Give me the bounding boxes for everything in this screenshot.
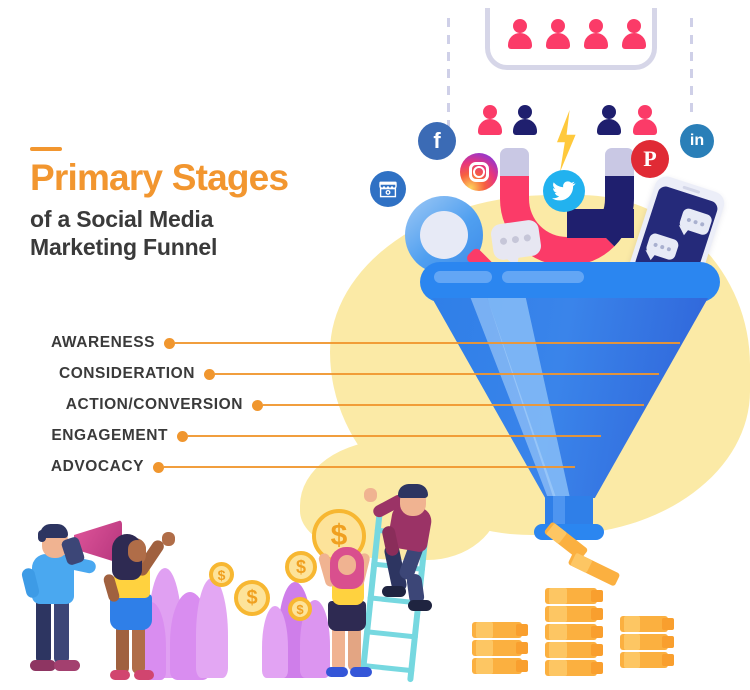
audience-person-icon: [508, 19, 532, 49]
twitter-icon[interactable]: [543, 170, 585, 212]
stage-label: ADVOCACY: [30, 458, 144, 476]
stage-row-consideration[interactable]: CONSIDERATION: [30, 365, 680, 383]
dollar-coin: $: [234, 580, 270, 616]
stage-connector-line: [188, 435, 601, 437]
audience-person-icon: [478, 105, 502, 135]
stage-dot: [164, 338, 175, 349]
character-man-on-ladder: [362, 482, 448, 622]
shop-icon[interactable]: [370, 171, 406, 207]
chat-bubble-icon: [645, 232, 680, 261]
stage-connector-line: [164, 466, 575, 468]
page-subtitle-line2: Marketing Funnel: [30, 233, 288, 261]
audience-person-icon: [633, 105, 657, 135]
dollar-coin: $: [285, 551, 317, 583]
dollar-coin: $: [288, 597, 312, 621]
foliage-shape: [196, 578, 228, 678]
speech-bubble-icon: [490, 219, 543, 261]
linkedin-icon[interactable]: in: [680, 124, 714, 158]
stage-dot: [252, 400, 263, 411]
coin-symbol: $: [296, 557, 306, 578]
dollar-coin: $: [209, 562, 234, 587]
coin-symbol: $: [296, 602, 303, 617]
twitter-bird-glyph: [552, 181, 576, 201]
title-accent-dash: [30, 147, 62, 151]
stage-connector-line: [263, 404, 644, 406]
guide-line-right: [690, 18, 693, 118]
stage-dot: [204, 369, 215, 380]
character-woman-pointing: [98, 530, 188, 680]
coin-symbol: $: [218, 567, 226, 583]
stage-connector-line: [175, 342, 680, 344]
stage-dot: [153, 462, 164, 473]
stage-connector-line: [215, 373, 659, 375]
audience-person-icon: [622, 19, 646, 49]
pinterest-icon[interactable]: P: [631, 140, 669, 178]
page-subtitle: of a Social Media Marketing Funnel: [30, 205, 288, 261]
coin-stack-right: [620, 616, 668, 678]
instagram-glyph: [469, 162, 489, 182]
audience-person-icon: [597, 105, 621, 135]
stage-row-engagement[interactable]: ENGAGEMENT: [30, 427, 680, 445]
page-subtitle-line1: of a Social Media: [30, 205, 288, 233]
audience-person-icon: [584, 19, 608, 49]
stage-label: ENGAGEMENT: [30, 427, 168, 445]
audience-person-icon: [546, 19, 570, 49]
stage-row-action-conversion[interactable]: ACTION/CONVERSION: [30, 396, 680, 414]
coin-stack-left: [472, 622, 522, 678]
stage-label: AWARENESS: [30, 334, 155, 352]
chat-bubble-icon: [678, 207, 713, 236]
funnel-rim: [420, 262, 720, 302]
instagram-icon[interactable]: [460, 153, 498, 191]
stage-dot: [177, 431, 188, 442]
stage-row-advocacy[interactable]: ADVOCACY: [30, 458, 680, 476]
infographic-canvas: f P in: [0, 0, 750, 690]
stage-label: ACTION/CONVERSION: [30, 396, 243, 414]
coin-symbol: $: [246, 587, 257, 610]
stage-row-awareness[interactable]: AWARENESS: [30, 334, 680, 352]
audience-person-icon: [513, 105, 537, 135]
coin-stack-center: [545, 588, 597, 680]
storefront-glyph: [378, 180, 398, 198]
stage-label: CONSIDERATION: [30, 365, 195, 383]
page-title: Primary Stages: [30, 159, 288, 198]
page-title-block: Primary Stages of a Social Media Marketi…: [30, 147, 288, 261]
falling-coin: [568, 551, 621, 586]
facebook-icon[interactable]: f: [418, 122, 456, 160]
